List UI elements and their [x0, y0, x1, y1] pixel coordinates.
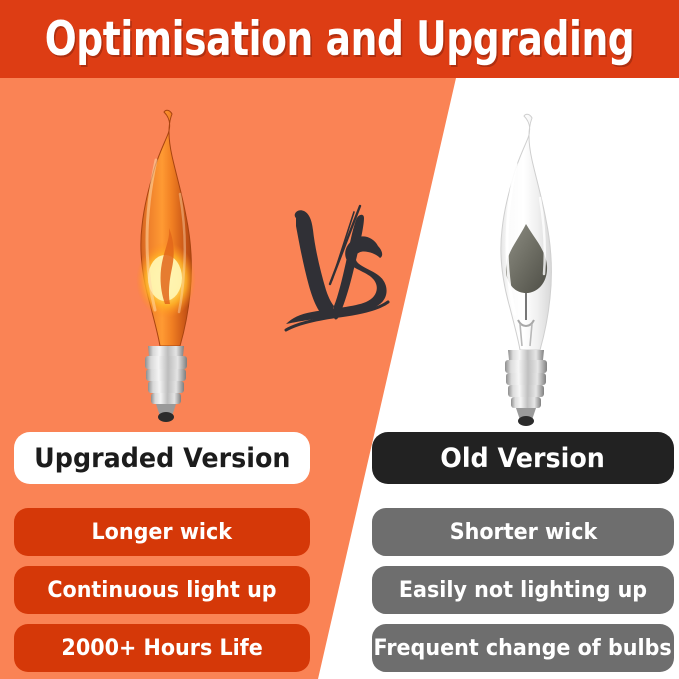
upgraded-feature-pill-2[interactable]: Continuous light up	[14, 566, 310, 614]
versus-mark	[282, 200, 394, 345]
upgraded-feature-label-1: Longer wick	[92, 520, 233, 545]
old-feature-label-2: Easily not lighting up	[399, 578, 647, 603]
old-bulb-image	[478, 112, 574, 428]
old-feature-label-1: Shorter wick	[449, 520, 597, 545]
vs-stroke-v-left	[295, 210, 334, 316]
vs-icon	[282, 200, 394, 340]
base-thread-2	[146, 369, 186, 381]
base-thread-3	[148, 381, 184, 393]
base-thread-1	[145, 356, 187, 369]
upgraded-feature-pill-3[interactable]: 2000+ Hours Life	[14, 624, 310, 672]
flame-tip-bulb-lit-icon	[118, 108, 214, 424]
upgraded-feature-label-2: Continuous light up	[47, 578, 276, 603]
old-version-title-pill[interactable]: Old Version	[372, 432, 674, 484]
base-thread-4	[511, 397, 541, 408]
old-feature-pill-3[interactable]: Frequent change of bulbs	[372, 624, 674, 672]
base-collar	[508, 350, 544, 360]
base-contact	[158, 412, 174, 422]
upgraded-feature-pill-1[interactable]: Longer wick	[14, 508, 310, 556]
base-thread-1	[505, 360, 547, 373]
base-contact	[518, 416, 534, 426]
upgraded-bulb-image	[118, 108, 214, 424]
flame-tip-bulb-unlit-icon	[478, 112, 574, 428]
base-thread-2	[506, 373, 546, 385]
page-title: Optimisation and Upgrading	[45, 16, 635, 63]
upgraded-version-title-pill[interactable]: Upgraded Version	[14, 432, 310, 484]
old-feature-label-3: Frequent change of bulbs	[374, 636, 672, 661]
base-collar	[148, 346, 184, 356]
base-thread-4	[151, 393, 181, 404]
comparison-poster: Optimisation and Upgrading	[0, 0, 679, 679]
old-feature-pill-2[interactable]: Easily not lighting up	[372, 566, 674, 614]
base-thread-3	[508, 385, 544, 397]
upgraded-feature-label-3: 2000+ Hours Life	[61, 636, 262, 661]
old-version-title-label: Old Version	[441, 443, 606, 474]
header-banner: Optimisation and Upgrading	[0, 0, 679, 78]
old-feature-pill-1[interactable]: Shorter wick	[372, 508, 674, 556]
upgraded-version-title-label: Upgraded Version	[34, 443, 290, 474]
